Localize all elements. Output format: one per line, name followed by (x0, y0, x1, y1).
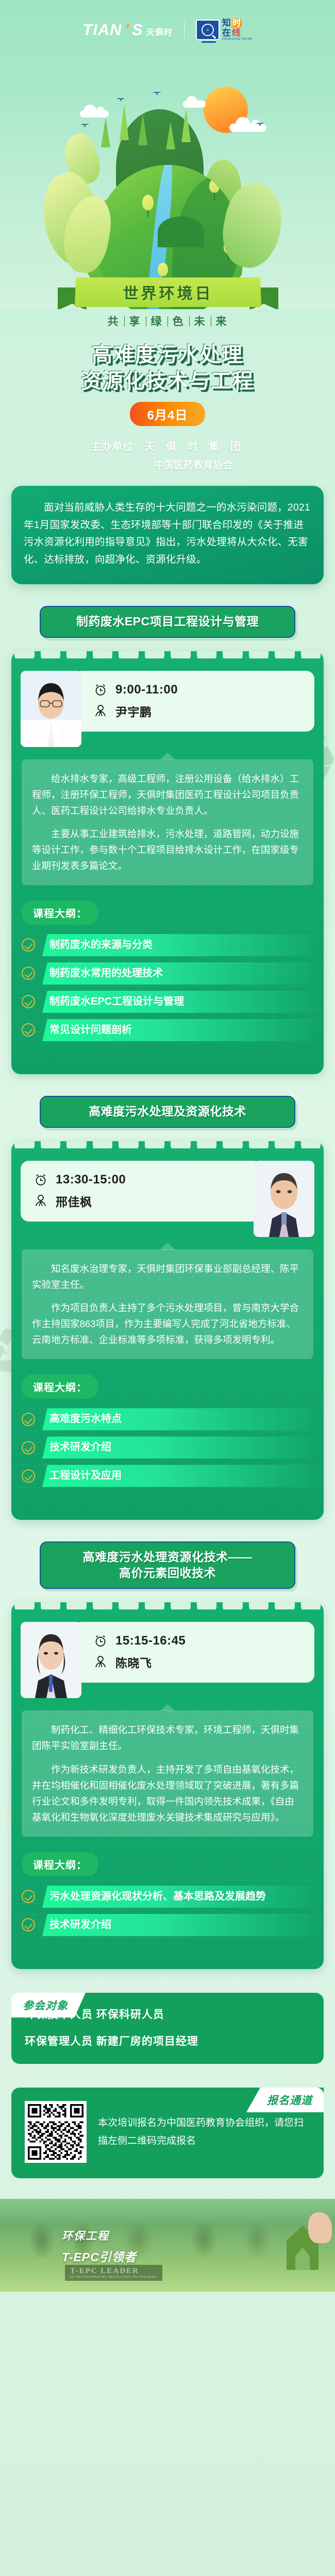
organizer-primary: 主办单位：天 俱 时 集 团 (0, 438, 335, 453)
list-item: 常见设计问题剖析 (22, 1019, 313, 1041)
session-1-bio: 给水排水专家，高级工程师，注册公用设备（给水排水）工程师，注册环保工程师，天俱时… (22, 759, 313, 885)
list-item: 制药废水常用的处理技术 (22, 962, 313, 985)
card-notch (11, 1141, 324, 1148)
pine-tree-icon (120, 104, 129, 140)
session-2-speaker-row-name: 邢佳枫 (34, 1192, 241, 1210)
footer-badge: T-EPC LEADER OF ENVIRONMENTAL PROTECTION… (65, 2265, 162, 2281)
check-icon (22, 1890, 35, 1903)
session-1-outline-0: 制药废水的来源与分类 (42, 934, 313, 956)
signup-block[interactable]: 报名通道 (11, 2088, 324, 2178)
session-1-time-row: 9:00-11:00 (94, 683, 305, 697)
organizer-block: 主办单位：天 俱 时 集 团 中国医药教育协会 (0, 438, 335, 471)
logo-row: TIAN'S 天俱时 ≈ 知 时 在 线 KNOWLEDGE O (0, 0, 335, 41)
intro-paragraph: 面对当前威胁人类生存的十大问题之一的水污染问题，2021年1月国家发改委、生态环… (24, 499, 311, 568)
session-2-body: 知名废水治理专家，天俱时集团环保事业部副总经理、陈平实验室主任。 作为项目负责人… (11, 1249, 324, 1506)
session-1-bio-p2: 主要从事工业建筑给排水，污水处理，道路管网，动力设施等设计工作，参与数十个工程项… (32, 826, 303, 874)
session-2-time-row: 13:30-15:00 (34, 1173, 241, 1187)
list-item: 工程设计及应用 (22, 1465, 313, 1487)
session-2-outline-list: 高难度污水特点 技术研发介绍 工程设计及应用 (22, 1408, 313, 1487)
session-1-outline-3: 常见设计问题剖析 (42, 1019, 313, 1041)
avatar (21, 671, 81, 747)
pine-tree-icon (166, 122, 175, 149)
session-3-bio: 制药化工、精细化工环保技术专家，环境工程师，天俱时集团陈平实验室副主任。 作为新… (22, 1710, 313, 1836)
session-2-bio-p2: 作为项目负责人主持了多个污水处理项目，曾与南京大学合作主持国家863项目，作为主… (32, 1300, 303, 1348)
tree-icon (209, 179, 220, 200)
eco-illustration: 世界环境日 (0, 72, 335, 309)
session-3-speaker-row-name: 陈晓飞 (94, 1653, 305, 1671)
zhishi-online-logo: ≈ 知 时 在 线 KNOWLEDGE ONLINE (196, 19, 253, 41)
list-item: 技术研发介绍 (22, 1436, 313, 1459)
alarm-clock-icon (94, 683, 107, 697)
slogan-char-5: 来 (216, 316, 228, 328)
footer-banner: 环保工程 T-EPC引领者 T-EPC LEADER OF ENVIRONMEN… (0, 2199, 335, 2292)
session-3-body: 制药化工、精细化工环保技术专家，环境工程师，天俱时集团陈平实验室副主任。 作为新… (11, 1710, 324, 1955)
session-3-speaker-row: 15:15-16:45 陈晓飞 (11, 1609, 324, 1698)
cloud-icon (80, 110, 109, 117)
session-1-speaker-row-name: 尹宇鹏 (94, 702, 305, 720)
tians-logo-s: S (132, 21, 143, 39)
check-icon (22, 995, 35, 1008)
session-2-heading-label: 高难度污水处理及资源化技术 (89, 1105, 246, 1119)
card-notch (11, 651, 324, 658)
grass-foreground (0, 2259, 335, 2292)
pine-tree-icon (181, 108, 191, 142)
bird-icon (116, 98, 126, 103)
avatar (254, 1161, 314, 1237)
session-1-card: 9:00-11:00 尹宇鹏 给水排水专家，高级工程师，注册公用设备（给水排水）… (11, 651, 324, 1074)
person-icon (94, 1655, 107, 1669)
check-icon (22, 1918, 35, 1931)
audience-tag: 参会对象 (11, 1993, 86, 2018)
session-3-time: 15:15-16:45 (115, 1634, 186, 1648)
session-1-speaker: 尹宇鹏 (115, 702, 152, 720)
person-icon (94, 704, 107, 718)
check-icon (22, 1469, 35, 1483)
pine-tree-icon (101, 117, 110, 147)
avatar (21, 1622, 81, 1698)
list-item: 制药废水EPC工程设计与管理 (22, 991, 313, 1013)
date-badge: 6月4日 (130, 402, 206, 426)
session-2-speaker: 邢佳枫 (56, 1192, 92, 1210)
session-2-outline-2: 工程设计及应用 (42, 1465, 313, 1487)
monitor-icon: ≈ (196, 20, 220, 40)
session-2-card: 13:30-15:00 邢佳枫 (11, 1141, 324, 1520)
slogan: 共享绿色未来 (0, 313, 335, 329)
logo-divider (184, 21, 185, 39)
session-1-outline-list: 制药废水的来源与分类 制药废水常用的处理技术 制药废水EPC工程设计与管理 常见… (22, 934, 313, 1041)
session-2-outline-0: 高难度污水特点 (42, 1408, 313, 1430)
session-3-outline-0: 污水处理资源化现状分析、基本思路及发展趋势 (42, 1886, 313, 1908)
zhishi-char-1: 知 (222, 19, 231, 27)
page-title: 高难度污水处理 资源化技术与工程 6月4日 (0, 342, 335, 426)
zhishi-char-4: 线 (232, 28, 241, 37)
check-icon (22, 938, 35, 952)
session-1-outline-2: 制药废水EPC工程设计与管理 (42, 991, 313, 1013)
session-1-bio-p1: 给水排水专家，高级工程师，注册公用设备（给水排水）工程师，注册环保工程师，天俱时… (32, 771, 303, 819)
session-2-heading: 高难度污水处理及资源化技术 (40, 1096, 295, 1128)
tians-logo-apostrophe: ' (125, 21, 129, 39)
alarm-clock-icon (34, 1173, 47, 1187)
zhishi-char-2: 时 (232, 19, 242, 27)
card-notch (11, 1602, 324, 1609)
check-icon (22, 1413, 35, 1426)
session-2-bio: 知名废水治理专家，天俱时集团环保事业部副总经理、陈平实验室主任。 作为项目负责人… (22, 1249, 313, 1359)
list-item: 污水处理资源化现状分析、基本思路及发展趋势 (22, 1886, 313, 1908)
session-1-heading: 制药废水EPC项目工程设计与管理 (40, 606, 295, 638)
cloud-icon (183, 100, 206, 108)
signup-text: 本次培训报名为中国医药教育协会组织，请您扫描左侧二维码完成报名 (98, 2114, 310, 2150)
person-icon (34, 1194, 47, 1208)
ribbon-body: 世界环境日 (75, 277, 261, 307)
session-2-info: 13:30-15:00 邢佳枫 (21, 1161, 262, 1222)
session-3: 高难度污水处理资源化技术—— 高价元素回收技术 (0, 1541, 335, 1969)
footer-badge-line-1: T-EPC LEADER (70, 2267, 157, 2276)
session-1-time: 9:00-11:00 (115, 683, 178, 697)
pine-tree-icon (138, 113, 147, 145)
session-3-heading: 高难度污水处理资源化技术—— 高价元素回收技术 (40, 1541, 295, 1589)
bird-icon (152, 92, 162, 96)
slogan-char-0: 共 (108, 316, 120, 328)
session-3-bio-p2: 作为新技术研发负责人，主持开发了多项自由基氧化技术，并在均相催化和固相催化废水处… (32, 1761, 303, 1825)
tians-logo-cn: 天俱时 (146, 25, 173, 38)
session-3-outline-list: 污水处理资源化现状分析、基本思路及发展趋势 技术研发介绍 (22, 1886, 313, 1936)
session-3-info: 15:15-16:45 陈晓飞 (73, 1622, 314, 1683)
bird-icon (255, 123, 265, 127)
session-2-outline-1: 技术研发介绍 (42, 1436, 313, 1459)
hill-shape (158, 216, 204, 247)
session-3-heading-line-2: 高价元素回收技术 (119, 1566, 216, 1580)
hero-banner: TIAN'S 天俱时 ≈ 知 时 在 线 KNOWLEDGE O (0, 0, 335, 309)
session-2-speaker-row: 13:30-15:00 邢佳枫 (11, 1148, 324, 1237)
slogan-char-4: 未 (194, 316, 206, 328)
organizer-name-2: 中国医药教育协会 (0, 457, 335, 471)
session-3-card: 15:15-16:45 陈晓飞 制药化工、精细化工环保技术专家，环境工程师，天俱… (11, 1602, 324, 1969)
session-3-outline-label: 课程大纲： (22, 1852, 98, 1876)
audience-line-2: 环保管理人员 新建厂房的项目经理 (25, 2033, 310, 2048)
audience-block: 参会对象 环保技术人员 环保科研人员 环保管理人员 新建厂房的项目经理 (11, 1993, 324, 2064)
check-icon (22, 967, 35, 980)
list-item: 技术研发介绍 (22, 1914, 313, 1936)
page-title-line-1: 高难度污水处理 (0, 342, 335, 368)
organizer-name-1: 天 俱 时 集 团 (144, 442, 244, 453)
session-2-time: 13:30-15:00 (56, 1173, 126, 1187)
bird-icon (80, 124, 90, 128)
ribbon-label: 世界环境日 (123, 281, 213, 303)
magnifier-dna-icon: ≈ (202, 24, 214, 36)
tians-logo: TIAN'S 天俱时 (82, 21, 172, 39)
intro-card: 面对当前威胁人类生存的十大问题之一的水污染问题，2021年1月国家发改委、生态环… (11, 486, 324, 584)
footer-badge-line-2: OF ENVIRONMENTAL PROTECTION ENGINEERING (70, 2276, 157, 2279)
organizer-label: 主办单位： (90, 442, 144, 453)
session-1: 制药废水EPC项目工程设计与管理 (0, 606, 335, 1074)
zhishi-char-3: 在 (222, 28, 231, 37)
check-icon (22, 1023, 35, 1037)
session-1-outline-label: 课程大纲： (22, 901, 98, 925)
session-3-heading-line-1: 高难度污水处理资源化技术—— (83, 1550, 253, 1564)
zhishi-wordmark: 知 时 在 线 KNOWLEDGE ONLINE (222, 19, 253, 41)
footer-slogan-line-1: 环保工程 (62, 2228, 137, 2243)
qr-code-icon[interactable] (25, 2101, 87, 2163)
session-1-heading-label: 制药废水EPC项目工程设计与管理 (76, 615, 259, 629)
slogan-char-3: 色 (173, 316, 185, 328)
poster-page: TIAN'S 天俱时 ≈ 知 时 在 线 KNOWLEDGE O (0, 0, 335, 2576)
world-environment-day-ribbon: 世界环境日 (58, 277, 278, 309)
session-2: 高难度污水处理及资源化技术 13:30-15:00 (0, 1096, 335, 1520)
check-icon (22, 1441, 35, 1454)
page-title-line-2: 资源化技术与工程 (0, 368, 335, 395)
tree-icon (142, 195, 154, 217)
session-3-bio-p1: 制药化工、精细化工环保技术专家，环境工程师，天俱时集团陈平实验室副主任。 (32, 1722, 303, 1754)
zhishi-tagline: KNOWLEDGE ONLINE (222, 38, 253, 41)
session-3-speaker: 陈晓飞 (115, 1653, 152, 1671)
list-item: 高难度污水特点 (22, 1408, 313, 1430)
alarm-clock-icon (94, 1634, 107, 1648)
session-1-body: 给水排水专家，高级工程师，注册公用设备（给水排水）工程师，注册环保工程师，天俱时… (11, 759, 324, 1061)
tians-logo-en: TIAN (82, 21, 122, 39)
session-2-bio-p1: 知名废水治理专家，天俱时集团环保事业部副总经理、陈平实验室主任。 (32, 1261, 303, 1293)
list-item: 制药废水的来源与分类 (22, 934, 313, 956)
footer-slogan: 环保工程 T-EPC引领者 (62, 2228, 137, 2265)
slogan-char-2: 绿 (151, 316, 163, 328)
session-1-outline-1: 制药废水常用的处理技术 (42, 962, 313, 985)
session-2-outline-label: 课程大纲： (22, 1375, 98, 1399)
session-1-info: 9:00-11:00 尹宇鹏 (73, 671, 314, 732)
footer-slogan-line-2: T-EPC引领者 (62, 2247, 137, 2265)
session-3-time-row: 15:15-16:45 (94, 1634, 305, 1648)
session-3-heading-label: 高难度污水处理资源化技术—— 高价元素回收技术 (83, 1549, 253, 1581)
slogan-char-1: 享 (129, 316, 141, 328)
session-3-outline-1: 技术研发介绍 (42, 1914, 313, 1936)
hand-icon (308, 2212, 332, 2243)
session-1-speaker-row: 9:00-11:00 尹宇鹏 (11, 658, 324, 747)
